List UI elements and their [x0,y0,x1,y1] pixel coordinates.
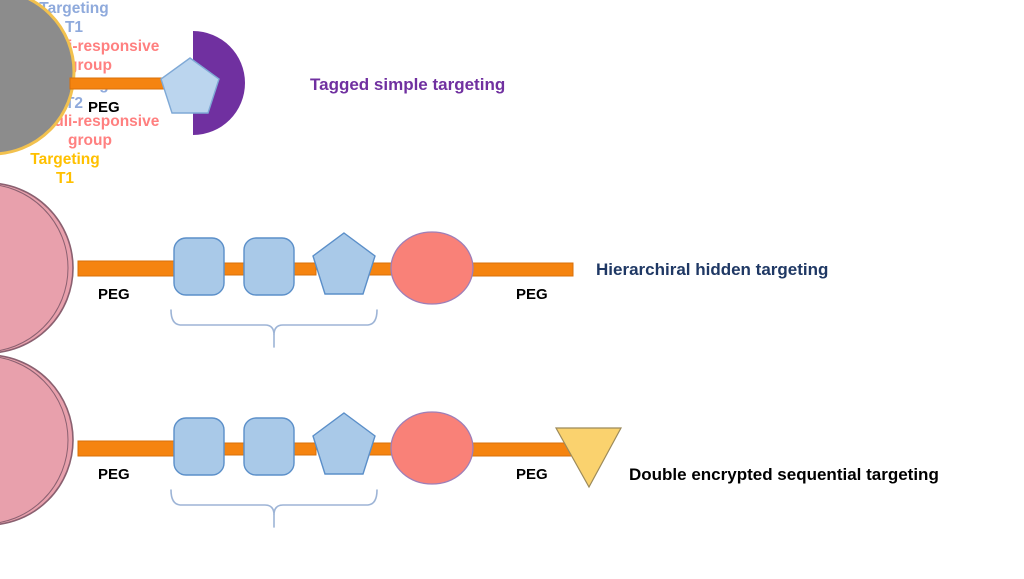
peg-linker-bar-left-2 [78,441,174,456]
chain-connector-1 [222,263,246,275]
row-title-tagged-simple-targeting: Tagged simple targeting [310,75,505,94]
row-title-double-encrypted-sequential-targeting: Double encrypted sequential targeting [629,465,939,484]
peg-linker-bar [70,78,172,89]
nanoparticle-pink-core-2 [0,355,73,525]
targeting-brace-row3 [171,490,377,515]
diagram-vector-layer [0,0,1024,579]
chain-connector-2 [292,263,316,275]
stimuli-responsive-group-circle-row3 [391,412,473,484]
targeting-unit-square-1-row3 [174,418,224,475]
targeting-brace [171,310,377,335]
chain-connector-2-row3 [292,443,316,455]
stimuli-responsive-group-circle [391,232,473,304]
row-hierarchiral-hidden-targeting [0,183,573,353]
terminal-triangle-yellow [556,428,621,487]
targeting-unit-pentagon-row3 [313,413,375,474]
nanoparticle-pink-core [0,183,73,353]
row-tagged-simple-targeting [0,0,245,154]
targeting-unit-square-1 [174,238,224,295]
nanoparticle-gray-core [0,0,74,154]
peg-label-row3-right: PEG [516,467,548,484]
row-double-encrypted-sequential-targeting [0,355,621,527]
peg-label-row2-left: PEG [98,287,130,304]
peg-linker-bar-right [470,263,573,276]
peg-label-row2-right: PEG [516,287,548,304]
targeting-unit-square-2 [244,238,294,295]
peg-label-row1: PEG [88,100,120,117]
targeting-unit-pentagon [313,233,375,294]
row-title-hierarchiral-hidden-targeting: Hierarchiral hidden targeting [596,260,828,279]
chain-connector-1-row3 [222,443,246,455]
peg-linker-bar-left [78,261,174,276]
peg-label-row3-left: PEG [98,467,130,484]
diagram-canvas: PEG Tagged simple targeting PEG PEG Hier… [0,0,1024,579]
targeting-unit-square-2-row3 [244,418,294,475]
peg-linker-bar-right-2 [470,443,575,456]
